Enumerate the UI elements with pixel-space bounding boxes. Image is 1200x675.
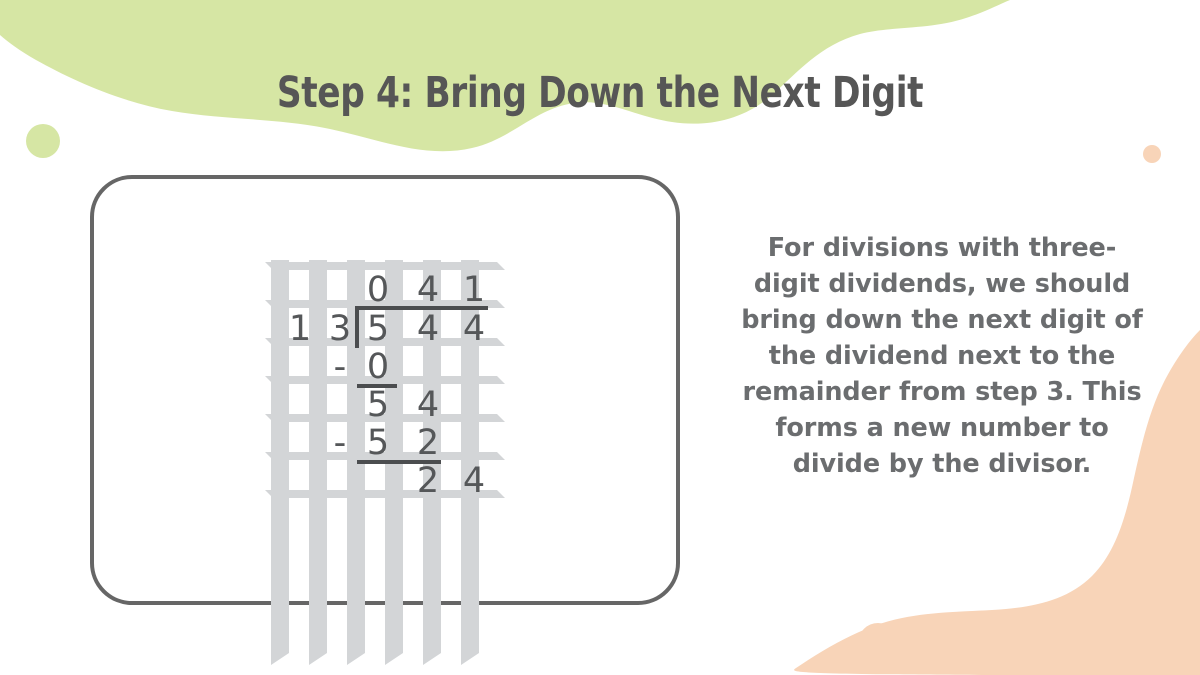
final-remainder-digit-2: 4 xyxy=(457,462,491,500)
dot-top-green xyxy=(294,26,309,41)
quotient-digit-3: 1 xyxy=(457,271,491,309)
subtrahend-1-digit-1: 0 xyxy=(361,348,395,386)
page-title: Step 4: Bring Down the Next Digit xyxy=(120,68,1080,118)
subtrahend-2-digit-2: 2 xyxy=(411,424,445,462)
partial-remainder-digit-1: 5 xyxy=(361,386,395,424)
minus-sign-2: - xyxy=(323,424,357,462)
dot-bottom-peach xyxy=(858,623,898,663)
dot-left-green xyxy=(26,124,60,158)
quotient-digit-1: 0 xyxy=(361,271,395,309)
dot-right-peach xyxy=(1143,145,1161,163)
partial-remainder-digit-2: 4 xyxy=(411,386,445,424)
divisor-digit-1: 1 xyxy=(283,310,317,348)
body-paragraph: For divisions with three-digit dividends… xyxy=(738,230,1146,482)
subtrahend-2-digit-1: 5 xyxy=(361,424,395,462)
dividend-digit-3: 4 xyxy=(457,310,491,348)
dividend-digit-2: 4 xyxy=(411,310,445,348)
final-remainder-digit-1: 2 xyxy=(411,462,445,500)
slide-canvas: Step 4: Bring Down the Next Digit 0 4 xyxy=(0,0,1200,675)
divisor-digit-2: 3 xyxy=(323,310,357,348)
dividend-digit-1: 5 xyxy=(361,310,395,348)
quotient-digit-2: 4 xyxy=(411,271,445,309)
minus-sign-1: - xyxy=(323,348,357,386)
long-division-problem: 0 4 1 1 3 5 4 4 - 0 5 4 - 5 2 2 4 xyxy=(265,260,505,490)
